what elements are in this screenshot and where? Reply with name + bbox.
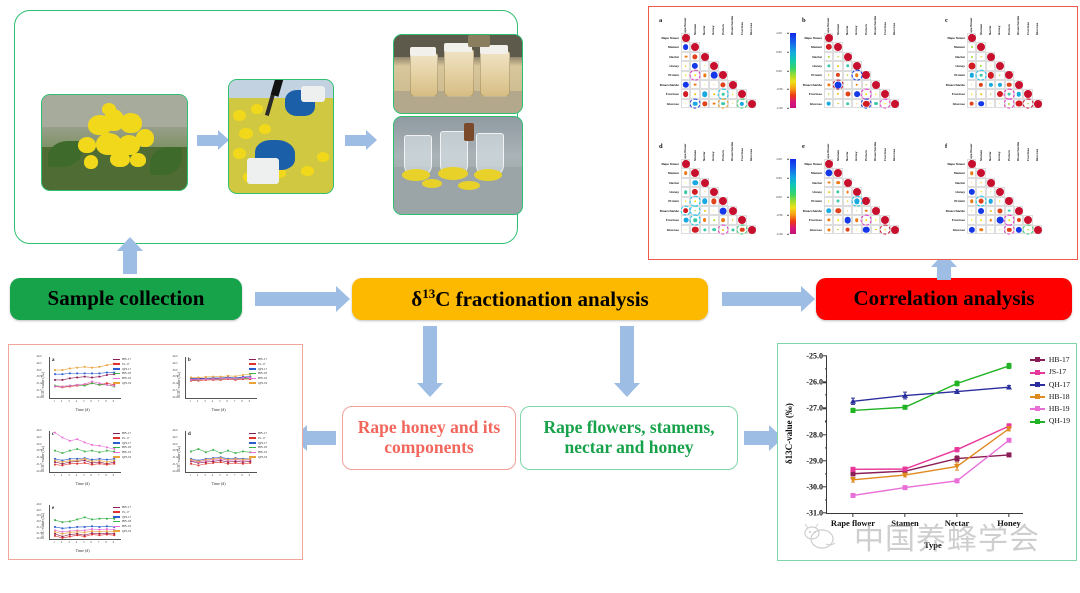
- mini-legend-label: HB-17: [122, 431, 131, 435]
- matrix-column-label: Disaccharide: [873, 142, 877, 161]
- mini-data-point: [76, 367, 78, 369]
- mini-x-tick: 3: [68, 541, 69, 544]
- matrix-column-label: Fructose: [740, 22, 744, 35]
- series-line-JS-17: [853, 426, 1009, 469]
- mini-data-point: [235, 460, 237, 462]
- mini-data-point: [69, 527, 71, 529]
- mini-data-point: [212, 460, 214, 462]
- matrix-row-label: Nectar: [651, 55, 679, 59]
- matrix-dot: [844, 217, 851, 224]
- mini-data-point: [54, 533, 56, 535]
- matrix-dot: [971, 219, 973, 221]
- matrix-row-label: Honey: [794, 190, 822, 194]
- mini-data-point: [76, 448, 78, 450]
- sample-collection-photo-panel: [14, 10, 518, 244]
- matrix-column-label: Disaccharide: [730, 16, 734, 35]
- mini-x-tick: 6: [91, 474, 92, 477]
- mini-y-tick: -30.5: [36, 375, 41, 378]
- mini-legend-label: HB-18: [122, 445, 131, 449]
- matrix-row-label: Protein: [794, 199, 822, 203]
- matrix-column-label: Disaccharide: [730, 142, 734, 161]
- rape-flowers-samples-box[interactable]: Rape flowers, stamens, nectar and honey: [520, 406, 738, 470]
- mini-data-point: [220, 457, 222, 459]
- matrix-dot: [748, 100, 756, 108]
- matrix-column-label: Nectar: [988, 25, 992, 35]
- data-point: [1007, 452, 1012, 457]
- matrix-highlight-ring: [880, 224, 891, 235]
- matrix-column-label: Glucose: [1035, 23, 1039, 35]
- matrix-column-label: Glucose: [749, 149, 753, 161]
- mini-x-tick: 2: [61, 400, 62, 403]
- mini-data-point: [198, 448, 200, 450]
- mini-data-point: [76, 377, 78, 379]
- correlation-panel-letter: d: [659, 143, 663, 150]
- mini-x-tick: 8: [241, 474, 242, 477]
- matrix-column-label: Fructose: [1026, 22, 1030, 35]
- matrix-dot: [694, 83, 697, 86]
- mini-data-point: [113, 463, 115, 465]
- mini-legend: HB-17JS-17QH-17HB-18HB-19QH-19: [113, 431, 131, 460]
- mini-data-point: [106, 464, 108, 466]
- mini-data-point: [69, 521, 71, 523]
- matrix-dot: [685, 182, 687, 184]
- mini-x-tick: 3: [204, 474, 205, 477]
- mini-data-point: [84, 376, 86, 378]
- matrix-column-label: Nectar: [845, 25, 849, 35]
- mini-data-point: [69, 534, 71, 536]
- mini-data-point: [235, 462, 237, 464]
- mini-data-point: [91, 367, 93, 369]
- matrix-row-label: Fructose: [937, 92, 965, 96]
- mini-data-point: [91, 462, 93, 464]
- mini-data-point: [84, 532, 86, 534]
- arrow-sample-to-photos: [123, 250, 137, 274]
- y-tick-label: -31.0: [806, 509, 823, 518]
- mini-x-tick: 9: [249, 474, 250, 477]
- matrix-dot: [856, 210, 858, 212]
- mini-data-point: [91, 460, 93, 462]
- matrix-dot: [988, 199, 993, 204]
- matrix-highlight-ring: [976, 70, 987, 81]
- mini-data-point: [91, 444, 93, 446]
- matrix-dot: [836, 181, 840, 185]
- mini-legend-swatch: [113, 521, 120, 523]
- mini-data-point: [249, 462, 251, 464]
- matrix-dot: [855, 218, 859, 222]
- colorbar-tick-mark: [787, 33, 789, 34]
- matrix-dot: [701, 179, 709, 187]
- mini-x-tick: 6: [91, 541, 92, 544]
- matrix-dot: [989, 219, 992, 222]
- matrix-dot: [990, 229, 992, 231]
- legend-label: QH-19: [1049, 416, 1070, 425]
- mini-legend-swatch: [249, 368, 256, 370]
- mini-chart-panel-e: eδ13C-value (‰)Time (d)-29.0-29.5-30.0-3…: [35, 501, 143, 553]
- mini-data-point: [227, 377, 229, 379]
- matrix-dot: [1007, 82, 1012, 87]
- matrix-dot: [856, 229, 858, 231]
- data-point: [903, 467, 908, 472]
- matrix-column-label: Stamen: [836, 150, 840, 161]
- mini-data-point: [54, 519, 56, 521]
- matrix-row-label: Fructose: [651, 92, 679, 96]
- mini-data-point: [54, 531, 56, 533]
- matrix-dot: [980, 182, 982, 184]
- mini-y-tick: -30.5: [172, 375, 177, 378]
- mini-y-tick: -29.5: [172, 362, 177, 365]
- mini-y-tick: -29.0: [172, 355, 177, 358]
- line-chart-y-axis-label: δ13C-value (‰): [784, 403, 794, 464]
- mini-y-tick: -30.0: [172, 443, 177, 446]
- mini-legend-swatch: [113, 378, 120, 380]
- mini-data-point: [91, 372, 93, 374]
- mini-data-point: [220, 378, 222, 380]
- matrix-dot: [999, 103, 1001, 105]
- mini-data-point: [205, 461, 207, 463]
- mini-legend-label: QH-17: [122, 515, 131, 519]
- mini-data-point: [62, 537, 64, 539]
- matrix-row-label: Disaccharide: [651, 83, 679, 87]
- legend-item-HB-19: HB-19: [1030, 403, 1070, 415]
- mini-legend-swatch: [113, 437, 120, 439]
- line-chart-plot-area: -25.0-26.0-27.0-28.0-29.0-30.0-31.0Rape …: [826, 356, 1023, 514]
- matrix-dot: [1015, 100, 1022, 107]
- data-point: [1007, 363, 1012, 368]
- mini-data-point: [76, 463, 78, 465]
- matrix-dot: [971, 84, 973, 86]
- matrix-dot: [738, 216, 746, 224]
- mini-data-point: [227, 461, 229, 463]
- matrix-highlight-ring: [851, 196, 862, 207]
- data-point: [851, 493, 856, 498]
- matrix-dot: [827, 181, 830, 184]
- mini-data-point: [76, 534, 78, 536]
- x-tick-mark: [852, 513, 853, 517]
- mini-data-point: [190, 459, 192, 461]
- mini-data-point: [212, 378, 214, 380]
- matrix-dot: [969, 101, 974, 106]
- mini-y-tick: -30.0: [36, 369, 41, 372]
- mini-data-point: [106, 374, 108, 376]
- mini-x-tick: 1: [54, 541, 55, 544]
- mini-data-point: [99, 372, 101, 374]
- matrix-row-label: Nectar: [794, 181, 822, 185]
- mini-data-point: [69, 372, 71, 374]
- colorbar-tick-label: 0.00: [776, 69, 781, 73]
- matrix-column-label: Fructose: [883, 22, 887, 35]
- legend-swatch: [1030, 384, 1045, 386]
- matrix-dot: [999, 201, 1001, 203]
- matrix-dot: [682, 34, 690, 42]
- matrix-dot: [713, 102, 716, 105]
- mini-x-tick: 3: [68, 474, 69, 477]
- matrix-column-label: Stamen: [979, 150, 983, 161]
- mini-data-point: [227, 459, 229, 461]
- matrix-row-label: Rape flower: [651, 36, 679, 40]
- mini-data-point: [205, 459, 207, 461]
- matrix-column-label: Fructose: [1026, 148, 1030, 161]
- matrix-column-label: Glucose: [892, 149, 896, 161]
- matrix-dot: [683, 91, 689, 97]
- mini-data-point: [76, 526, 78, 528]
- mini-x-tick: 4: [76, 541, 77, 544]
- mini-data-point: [235, 375, 237, 377]
- correlation-analysis-box[interactable]: Correlation analysis: [816, 278, 1072, 320]
- sample-collection-box[interactable]: Sample collection: [10, 278, 242, 320]
- mini-data-point: [91, 519, 93, 521]
- legend-label: QH-17: [1049, 380, 1070, 389]
- mini-legend-label: JS-17: [122, 362, 130, 366]
- mini-legend-label: QH-17: [122, 367, 131, 371]
- mini-legend-label: JS-17: [122, 510, 130, 514]
- mini-legend: HB-17JS-17QH-17HB-18HB-19QH-19: [113, 357, 131, 386]
- mini-legend-label: HB-18: [258, 371, 267, 375]
- mini-data-point: [198, 460, 200, 462]
- matrix-dot: [825, 34, 833, 42]
- matrix-dot: [1008, 209, 1011, 212]
- mini-y-tick: -29.0: [36, 429, 41, 432]
- mini-x-tick: 5: [219, 400, 220, 403]
- mini-data-point: [249, 460, 251, 462]
- matrix-dot: [971, 46, 973, 48]
- mini-y-tick: -31.0: [36, 382, 41, 385]
- matrix-dot: [704, 84, 706, 86]
- mini-legend-label: JS-17: [258, 436, 266, 440]
- mini-data-point: [235, 378, 237, 380]
- matrix-row-label: Nectar: [937, 181, 965, 185]
- colorbar-tick-mark: [787, 234, 789, 235]
- arrow-correlation-to-matrices: [937, 266, 951, 280]
- mini-data-point: [84, 442, 86, 444]
- matrix-dot: [834, 43, 842, 51]
- mini-data-point: [198, 464, 200, 466]
- mini-data-point: [212, 462, 214, 464]
- mini-legend-label: HB-19: [122, 450, 131, 454]
- rape-honey-components-box[interactable]: Rape honey and its components: [342, 406, 516, 470]
- matrix-dot: [987, 53, 995, 61]
- mini-legend-swatch: [249, 373, 256, 375]
- matrix-column-label: Stamen: [836, 24, 840, 35]
- mini-legend-label: HB-18: [122, 519, 131, 523]
- arrow-sampling-to-samples: [345, 135, 367, 146]
- mini-x-tick: 8: [241, 400, 242, 403]
- matrix-dot: [711, 72, 718, 79]
- matrix-dot: [979, 228, 983, 232]
- mini-data-point: [62, 521, 64, 523]
- mini-data-point: [91, 381, 93, 383]
- matrix-row-label: Stamen: [937, 45, 965, 49]
- mini-data-point: [54, 386, 56, 388]
- matrix-column-label: Honey: [711, 152, 715, 161]
- colorbar-tick-mark: [787, 215, 789, 216]
- matrix-dot: [881, 90, 889, 98]
- matrix-column-label: Protein: [721, 24, 725, 35]
- mini-y-tick: -29.5: [36, 436, 41, 439]
- mini-data-point: [91, 382, 93, 384]
- matrix-column-label: Disaccharide: [873, 16, 877, 35]
- x-tick-mark: [956, 513, 957, 517]
- mini-legend-swatch: [249, 452, 256, 454]
- matrix-dot: [685, 65, 687, 67]
- mini-x-tick: 5: [83, 541, 84, 544]
- mini-series: [49, 357, 120, 398]
- matrix-dot: [872, 81, 880, 89]
- mini-y-tick: -29.0: [172, 429, 177, 432]
- mini-data-point: [99, 518, 101, 520]
- colorbar-tick-mark: [787, 108, 789, 109]
- matrix-dot: [1024, 216, 1032, 224]
- mini-data-point: [198, 379, 200, 381]
- matrix-row-label: Stamen: [651, 45, 679, 49]
- mini-x-tick: 1: [54, 400, 55, 403]
- matrix-column-label: Fructose: [883, 148, 887, 161]
- matrix-dot: [971, 182, 973, 184]
- matrix-dot: [683, 218, 688, 223]
- mini-legend-swatch: [249, 359, 256, 361]
- matrix-dot: [847, 210, 849, 212]
- mini-data-point: [242, 463, 244, 465]
- mini-y-tick: -32.0: [36, 470, 41, 473]
- matrix-column-label: Honey: [854, 152, 858, 161]
- mini-data-point: [62, 437, 64, 439]
- matrix-dot: [732, 219, 734, 221]
- arrow-sample-to-fractionation: [255, 292, 337, 306]
- mini-x-tick: 1: [190, 400, 191, 403]
- matrix-column-label: Protein: [721, 150, 725, 161]
- mini-legend-swatch: [249, 378, 256, 380]
- colorbar-tick-mark: [787, 70, 789, 71]
- matrix-dot: [865, 209, 868, 212]
- mini-y-tick: -31.0: [36, 526, 41, 529]
- fractionation-analysis-box[interactable]: δ13C fractionation analysis: [352, 278, 708, 320]
- mini-legend-label: QH-19: [122, 381, 131, 385]
- mini-chart-panel-c: cδ13C-value (‰)Time (d)-29.0-29.5-30.0-3…: [35, 427, 143, 489]
- mini-x-tick: 2: [197, 400, 198, 403]
- mini-x-axis-label: Time (d): [76, 407, 90, 412]
- series-line-QH-17: [853, 387, 1009, 401]
- mini-legend-swatch: [249, 437, 256, 439]
- matrix-dot: [837, 200, 840, 203]
- matrix-highlight-ring: [690, 70, 701, 81]
- matrix-dot: [980, 219, 982, 221]
- matrix-dot: [837, 103, 839, 105]
- mini-x-tick: 6: [227, 400, 228, 403]
- matrix-dot: [710, 62, 718, 70]
- mini-data-point: [62, 369, 64, 371]
- matrix-dot: [720, 207, 727, 214]
- mini-legend-item: QH-19: [113, 381, 131, 386]
- correlation-panel-letter: f: [945, 143, 947, 150]
- mini-data-point: [99, 366, 101, 368]
- matrix-dot: [977, 169, 985, 177]
- mini-x-tick: 9: [113, 541, 114, 544]
- mini-data-point: [212, 458, 214, 460]
- mini-legend-label: QH-19: [122, 529, 131, 533]
- matrix-dot: [990, 191, 992, 193]
- mini-data-point: [84, 462, 86, 464]
- colorbar-tick-mark: [787, 196, 789, 197]
- mini-data-point: [91, 464, 93, 466]
- mini-x-tick: 2: [61, 474, 62, 477]
- mini-data-point: [99, 376, 101, 378]
- mini-data-point: [54, 450, 56, 452]
- matrix-dot: [828, 74, 830, 76]
- matrix-dot: [694, 93, 696, 95]
- mini-data-point: [91, 525, 93, 527]
- mini-data-point: [54, 535, 56, 537]
- matrix-row-label: Stamen: [651, 171, 679, 175]
- mini-legend-label: JS-17: [258, 362, 266, 366]
- matrix-row-label: Disaccharide: [937, 209, 965, 213]
- legend-item-QH-17: QH-17: [1030, 379, 1070, 391]
- matrix-dot: [731, 228, 734, 231]
- y-tick-label: -28.0: [806, 430, 823, 439]
- matrix-dot: [970, 171, 974, 175]
- mini-y-tick: -31.0: [172, 456, 177, 459]
- matrix-column-label: Nectar: [988, 151, 992, 161]
- mini-legend-item: QH-19: [113, 529, 131, 534]
- mini-data-point: [84, 516, 86, 518]
- matrix-dot: [990, 65, 992, 67]
- mini-x-tick: 7: [98, 400, 99, 403]
- matrix-row-label: Disaccharide: [937, 83, 965, 87]
- mini-data-point: [220, 460, 222, 462]
- line-chart-series: [827, 356, 1023, 513]
- matrix-row-label: Glucose: [651, 102, 679, 106]
- mini-x-tick: 7: [98, 541, 99, 544]
- mini-data-point: [69, 463, 71, 465]
- mini-data-point: [205, 463, 207, 465]
- mini-data-point: [242, 461, 244, 463]
- mini-data-point: [62, 463, 64, 465]
- matrix-dot: [853, 188, 861, 196]
- rape-flowers-samples-label: Rape flowers, stamens, nectar and honey: [521, 418, 737, 457]
- matrix-column-label: Fructose: [740, 148, 744, 161]
- mini-data-point: [84, 385, 86, 387]
- mini-legend-label: HB-17: [122, 505, 131, 509]
- mini-data-point: [76, 438, 78, 440]
- mini-series: [49, 505, 120, 539]
- mini-series: [185, 431, 256, 472]
- matrix-dot: [968, 34, 976, 42]
- matrix-column-label: Protein: [864, 150, 868, 161]
- mini-data-point: [76, 372, 78, 374]
- mini-data-point: [62, 533, 64, 535]
- colorbar-tick-label: 0.00: [776, 195, 781, 199]
- matrix-dot: [713, 210, 715, 212]
- mini-data-point: [205, 378, 207, 380]
- matrix-dot: [875, 219, 877, 221]
- mini-x-tick: 2: [61, 541, 62, 544]
- mini-data-point: [69, 458, 71, 460]
- mini-data-point: [212, 449, 214, 451]
- matrix-dot: [1016, 92, 1021, 97]
- mini-chart-panel-d: dδ13C-value (‰)Time (d)-29.0-29.5-30.0-3…: [171, 427, 279, 489]
- matrix-dot: [997, 217, 1004, 224]
- mini-y-tick: -29.5: [172, 436, 177, 439]
- mini-x-tick: 2: [197, 474, 198, 477]
- matrix-row-label: Protein: [794, 73, 822, 77]
- matrix-dot: [828, 93, 830, 95]
- mini-x-tick: 3: [68, 400, 69, 403]
- honey-jars-photo: [393, 34, 523, 114]
- mini-x-tick: 5: [83, 474, 84, 477]
- legend-swatch: [1030, 421, 1045, 423]
- mini-data-point: [91, 528, 93, 530]
- delta13c-line-chart: -25.0-26.0-27.0-28.0-29.0-30.0-31.0Rape …: [777, 343, 1077, 561]
- colorbar-tick-label: 1.00: [776, 157, 781, 161]
- mini-data-point: [106, 384, 108, 386]
